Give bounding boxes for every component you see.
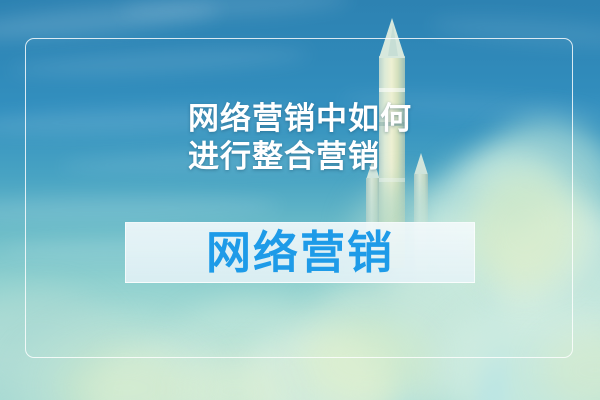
rocket-ring (379, 88, 405, 92)
rocket-nose-shading (388, 24, 398, 56)
title-line-1: 网络营销中如何 (188, 100, 488, 138)
keyword-text: 网络营销 (206, 230, 394, 275)
smoke-highlight (300, 318, 430, 400)
page-title: 网络营销中如何 进行整合营销 (188, 100, 488, 176)
title-line-2: 进行整合营销 (188, 138, 488, 176)
smoke-highlight (470, 170, 580, 290)
poster-canvas: 网络营销中如何 进行整合营销 网络营销 (0, 0, 600, 400)
keyword-band: 网络营销 (125, 222, 475, 283)
